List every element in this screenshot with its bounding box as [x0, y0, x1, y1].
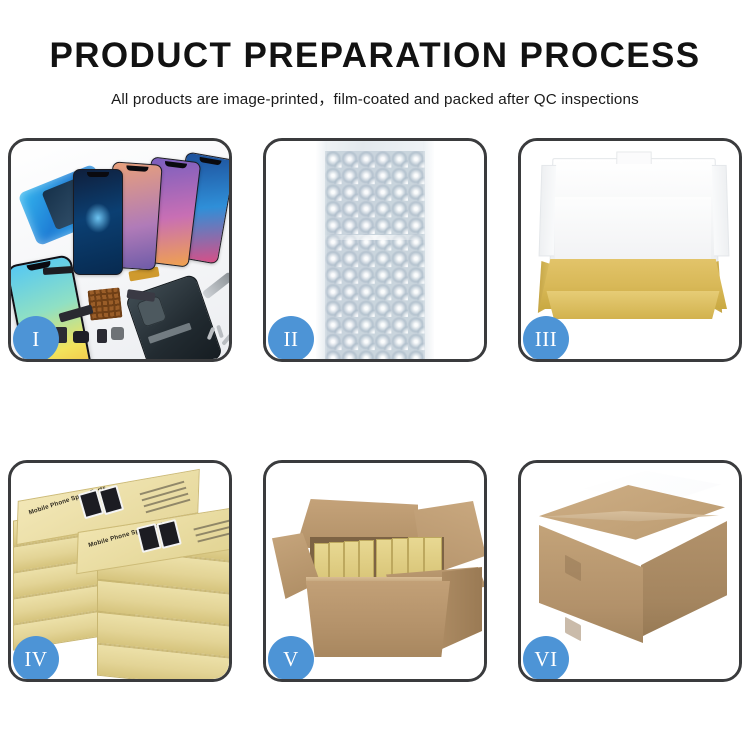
carton-body-front: [306, 581, 450, 657]
page-header: PRODUCT PREPARATION PROCESS All products…: [0, 0, 750, 109]
sleeve-edge-left: [316, 141, 327, 359]
sealed-carton-front: [539, 525, 643, 643]
step-panel-6: VI: [518, 460, 742, 682]
step-panel-3: III: [518, 138, 742, 362]
sealed-carton-side: [641, 521, 727, 637]
step-panel-5: V: [263, 460, 487, 682]
step-badge-4: IV: [13, 636, 59, 682]
carton-seam-lower: [565, 617, 581, 642]
step-badge-2: II: [268, 316, 314, 362]
phone-display-fan: [73, 155, 229, 273]
sleeve-seam: [322, 235, 428, 240]
notch-icon: [87, 172, 108, 177]
carton-body-side: [442, 567, 482, 649]
small-part-2-icon: [73, 331, 89, 343]
process-steps-grid: I II III: [8, 138, 742, 682]
sleeve-edge-right: [423, 141, 434, 359]
page-title: PRODUCT PREPARATION PROCESS: [0, 0, 750, 73]
phone-display-1-icon: [73, 169, 123, 275]
page-subtitle: All products are image-printed，film-coat…: [0, 73, 750, 109]
mailer-box-front: [541, 291, 725, 319]
tweezers-icon: [202, 271, 229, 299]
small-part-3-icon: [97, 329, 107, 343]
chip-grid-icon: [88, 287, 123, 320]
notch-icon: [127, 165, 148, 171]
battery-label-icon: [148, 323, 192, 344]
lid-tab-icon: [616, 151, 651, 163]
notch-icon: [199, 157, 221, 166]
foam-insert-icon: [555, 197, 711, 263]
step-badge-3: III: [523, 316, 569, 362]
bubble-pattern: [325, 151, 425, 359]
small-part-4-icon: [111, 327, 124, 340]
step-panel-4: Mobile Phone Spare Parts Mobile Phone Sp…: [8, 460, 232, 682]
screws-icon: [207, 325, 229, 349]
step-badge-5: V: [268, 636, 314, 682]
bubble-wrap-sleeve-icon: [316, 141, 434, 359]
step-panel-2: II: [263, 138, 487, 362]
step-badge-1: I: [13, 316, 59, 362]
notch-icon: [165, 161, 187, 169]
step-badge-6: VI: [523, 636, 569, 682]
step-panel-1: I: [8, 138, 232, 362]
